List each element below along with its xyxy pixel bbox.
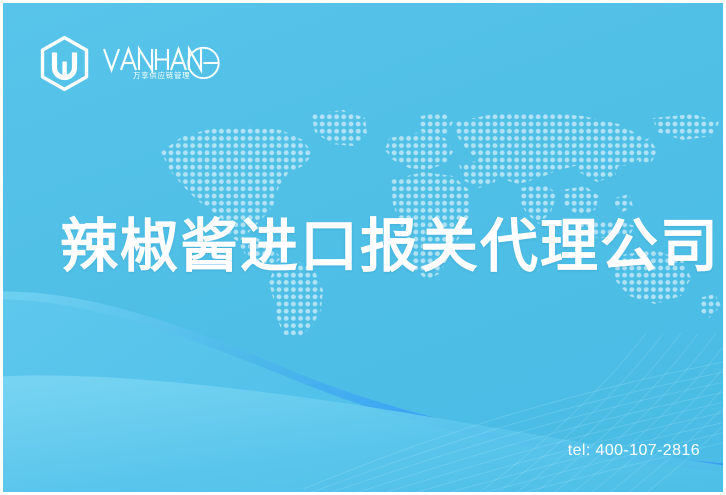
hairline-curve-texture [303, 333, 726, 495]
contact-phone[interactable]: tel: 400-107-2816 [568, 441, 700, 461]
logo-wordmark: 万享供应链管理 [102, 43, 220, 85]
promo-banner: 万享供应链管理 辣椒酱进口报关代理公司 tel: 400-107-2816 [0, 0, 726, 495]
logo-subtitle-text: 万享供应链管理 [133, 71, 190, 80]
page-title: 辣椒酱进口报关代理公司 [60, 214, 720, 280]
hexagon-u-shield-icon [36, 35, 93, 92]
brand-logo[interactable]: 万享供应链管理 [36, 35, 220, 92]
